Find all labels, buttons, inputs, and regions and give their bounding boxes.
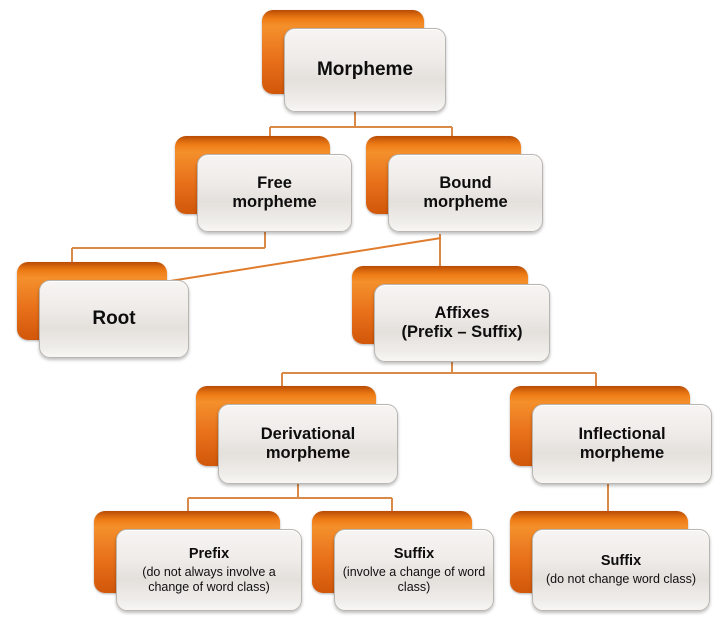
node-face: Bound morpheme: [388, 154, 543, 232]
node-root[interactable]: Root: [17, 262, 167, 340]
node-affixes[interactable]: Affixes (Prefix – Suffix): [352, 266, 528, 344]
node-label-line1: Derivational: [261, 425, 355, 444]
node-morpheme[interactable]: Morpheme: [262, 10, 424, 94]
edge-derivational-children: [188, 484, 392, 512]
node-free-morpheme[interactable]: Free morpheme: [175, 136, 330, 214]
node-label-line1: Affixes: [434, 304, 489, 323]
edge-free-root: [72, 232, 265, 266]
node-face: Suffix (do not change word class): [532, 529, 710, 611]
node-description: (do not always involve a change of word …: [123, 565, 295, 594]
node-face: Morpheme: [284, 28, 446, 112]
node-derivational-morpheme[interactable]: Derivational morpheme: [196, 386, 376, 466]
node-face: Root: [39, 280, 189, 358]
node-label-line2: morpheme: [580, 444, 664, 463]
node-label: Root: [92, 308, 135, 330]
node-label-line2: morpheme: [232, 193, 316, 212]
node-label-line1: Inflectional: [578, 425, 665, 444]
diagram-canvas: Morpheme Free morpheme Bound morpheme Ro…: [0, 0, 720, 621]
node-face: Free morpheme: [197, 154, 352, 232]
node-face: Suffix (involve a change of word class): [334, 529, 494, 611]
node-face: Inflectional morpheme: [532, 404, 712, 484]
node-bound-morpheme[interactable]: Bound morpheme: [366, 136, 521, 214]
node-label-line2: morpheme: [266, 444, 350, 463]
node-label-line1: Bound: [439, 174, 491, 193]
node-face: Prefix (do not always involve a change o…: [116, 529, 302, 611]
node-suffix-derivational[interactable]: Suffix (involve a change of word class): [312, 511, 472, 593]
node-prefix[interactable]: Prefix (do not always involve a change o…: [94, 511, 280, 593]
node-label: Prefix: [189, 546, 229, 563]
node-label: Morpheme: [317, 59, 413, 81]
node-face: Derivational morpheme: [218, 404, 398, 484]
node-label-line1: Free: [257, 174, 292, 193]
node-inflectional-morpheme[interactable]: Inflectional morpheme: [510, 386, 690, 466]
node-face: Affixes (Prefix – Suffix): [374, 284, 550, 362]
node-description: (involve a change of word class): [341, 565, 487, 594]
node-label: Suffix: [394, 546, 434, 563]
node-description: (do not change word class): [546, 572, 696, 586]
node-label-line2: morpheme: [423, 193, 507, 212]
node-label-line2: (Prefix – Suffix): [401, 323, 522, 342]
node-label: Suffix: [601, 553, 641, 570]
node-suffix-inflectional[interactable]: Suffix (do not change word class): [510, 511, 688, 593]
